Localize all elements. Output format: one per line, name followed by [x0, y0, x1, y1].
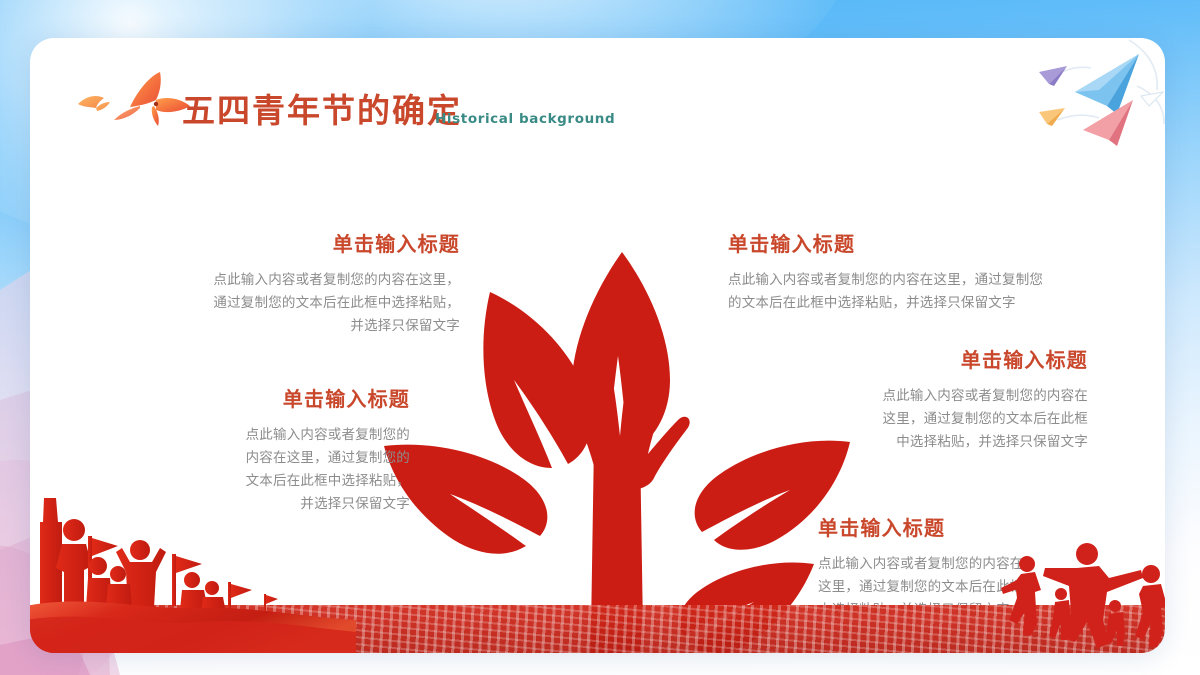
body-line: 内容在这里，通过复制您的 — [246, 450, 410, 466]
block-body: 点此输入内容或者复制您的内容在这里，通过复制您 的文本后在此框中选择粘贴，并选择… — [728, 269, 1088, 315]
body-line: 点此输入内容或者复制您的内容在这里，通过复制您 — [728, 272, 1043, 288]
block-heading: 单击输入标题 — [160, 383, 410, 412]
content-card: 五四青年节的确定 Historical background — [30, 38, 1165, 653]
body-line: 点此输入内容或者复制您的内容在 — [883, 388, 1089, 404]
block-body: 点此输入内容或者复制您的内容在 这里，通过复制您的文本后在此框 中选择粘贴，并选… — [830, 385, 1088, 454]
cheering-crowd-silhouette — [30, 488, 356, 653]
block-heading: 单击输入标题 — [728, 228, 1088, 257]
body-line: 中选择粘贴，并选择只保留文字 — [896, 434, 1088, 450]
body-line: 这里，通过复制您的文本后在此框 — [883, 411, 1089, 427]
running-figures-silhouette — [991, 528, 1165, 653]
body-line: 通过复制您的文本后在此框中选择粘贴， — [213, 295, 460, 311]
block-heading: 单击输入标题 — [830, 344, 1088, 373]
body-line: 文本后在此框中选择粘贴， — [246, 473, 410, 489]
body-line: 点此输入内容或者复制您的内容在这里， — [213, 272, 460, 288]
slide-header: 五四青年节的确定 Historical background — [30, 38, 1165, 148]
page-title: 五四青年节的确定 — [182, 84, 462, 132]
block-heading: 单击输入标题 — [150, 228, 460, 257]
paper-planes-icon — [1021, 38, 1165, 154]
text-block-right-top[interactable]: 单击输入标题 点此输入内容或者复制您的内容在这里，通过复制您 的文本后在此框中选… — [728, 228, 1088, 315]
text-block-right-middle[interactable]: 单击输入标题 点此输入内容或者复制您的内容在 这里，通过复制您的文本后在此框 中… — [830, 344, 1088, 454]
block-body: 点此输入内容或者复制您的内容在这里， 通过复制您的文本后在此框中选择粘贴， 并选… — [150, 269, 460, 338]
page-subtitle: Historical background — [435, 111, 615, 127]
body-line: 点此输入内容或者复制您的 — [246, 427, 410, 443]
body-line: 并选择只保留文字 — [350, 318, 460, 334]
text-block-left-top[interactable]: 单击输入标题 点此输入内容或者复制您的内容在这里， 通过复制您的文本后在此框中选… — [150, 228, 460, 338]
body-line: 的文本后在此框中选择粘贴，并选择只保留文字 — [728, 295, 1016, 311]
slide-canvas: 五四青年节的确定 Historical background — [0, 0, 1200, 675]
